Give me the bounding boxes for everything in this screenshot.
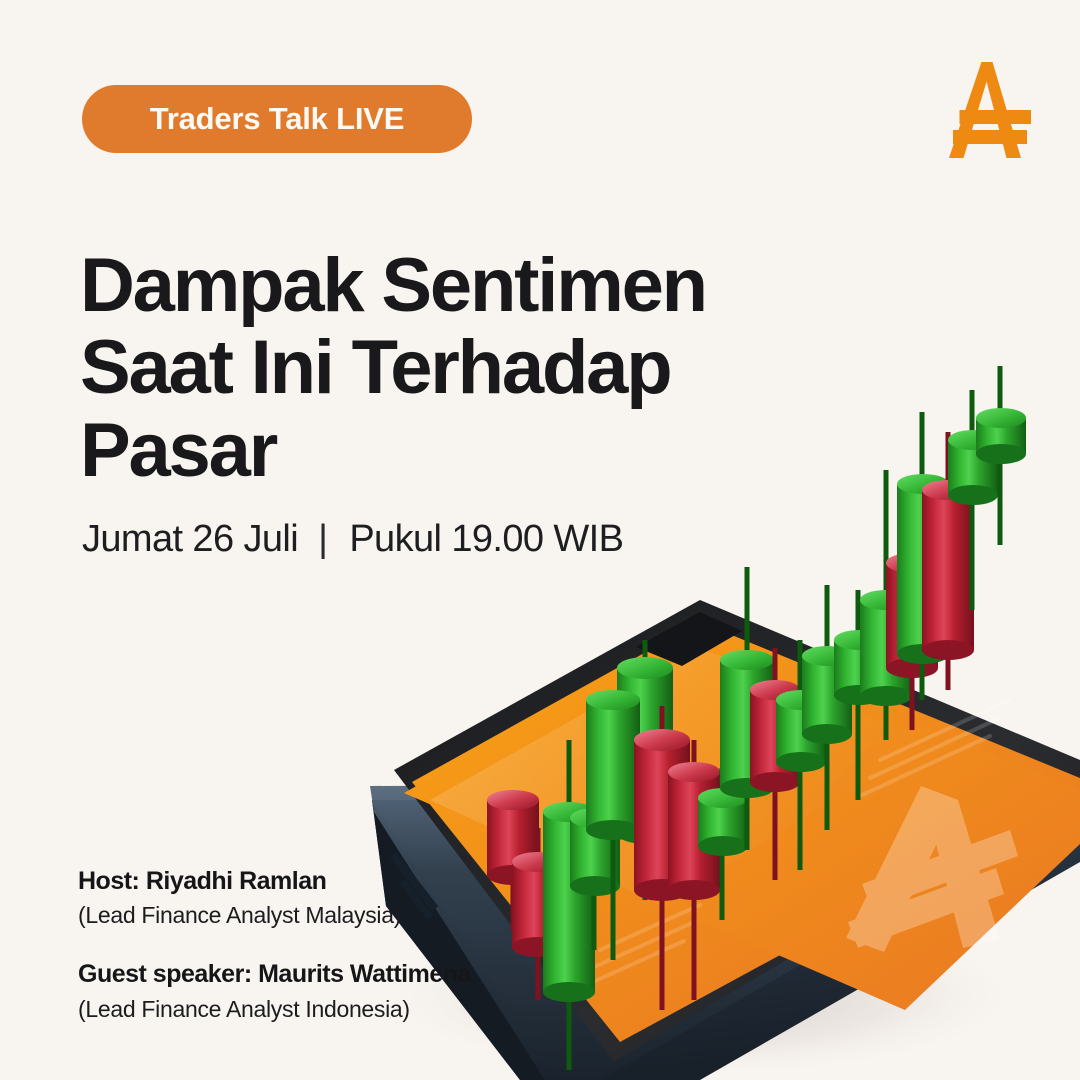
candle-10 [720,567,774,850]
candle-19 [948,390,998,610]
candle-8 [668,740,720,1000]
candle-15 [860,470,912,740]
promo-poster: Traders Talk LIVE Dampak Sentimen Saat I… [0,0,1080,1080]
candle-17 [897,412,949,700]
octa-a-logo-icon [939,58,1035,162]
event-time: Pukul 19.00 WIB [349,518,623,560]
candle-7 [634,706,690,1010]
guest-role: (Lead Finance Analyst Indonesia) [78,994,598,1025]
event-date: Jumat 26 Juli [82,518,298,560]
candle-18 [922,432,974,690]
candle-9 [698,768,748,920]
screen-watermark-a-icon [846,786,1018,952]
live-badge: Traders Talk LIVE [82,85,472,153]
schedule-separator: | [318,518,327,561]
event-schedule: Jumat 26 Juli | Pukul 19.00 WIB [82,518,623,561]
candle-11 [750,648,800,880]
page-title: Dampak Sentimen Saat Ini Terhadap Pasar [80,245,800,492]
live-badge-label: Traders Talk LIVE [150,101,404,137]
candle-5 [617,640,673,900]
candle-12 [776,640,826,870]
host-role: (Lead Finance Analyst Malaysia) [78,900,598,931]
candle-14 [834,590,884,800]
host-name: Host: Riyadhi Ramlan [78,866,598,897]
candle-20 [976,366,1026,545]
headline-line-2: Saat Ini Terhadap [80,327,800,409]
candle-13 [802,585,852,830]
speaker-guest: Guest speaker: Maurits Wattimena (Lead F… [78,959,598,1024]
headline-line-1: Dampak Sentimen [80,245,800,327]
headline-line-3: Pasar [80,410,800,492]
speaker-host: Host: Riyadhi Ramlan (Lead Finance Analy… [78,866,598,931]
speaker-list: Host: Riyadhi Ramlan (Lead Finance Analy… [78,866,598,1025]
candle-16 [886,520,938,730]
guest-name: Guest speaker: Maurits Wattimena [78,959,598,990]
